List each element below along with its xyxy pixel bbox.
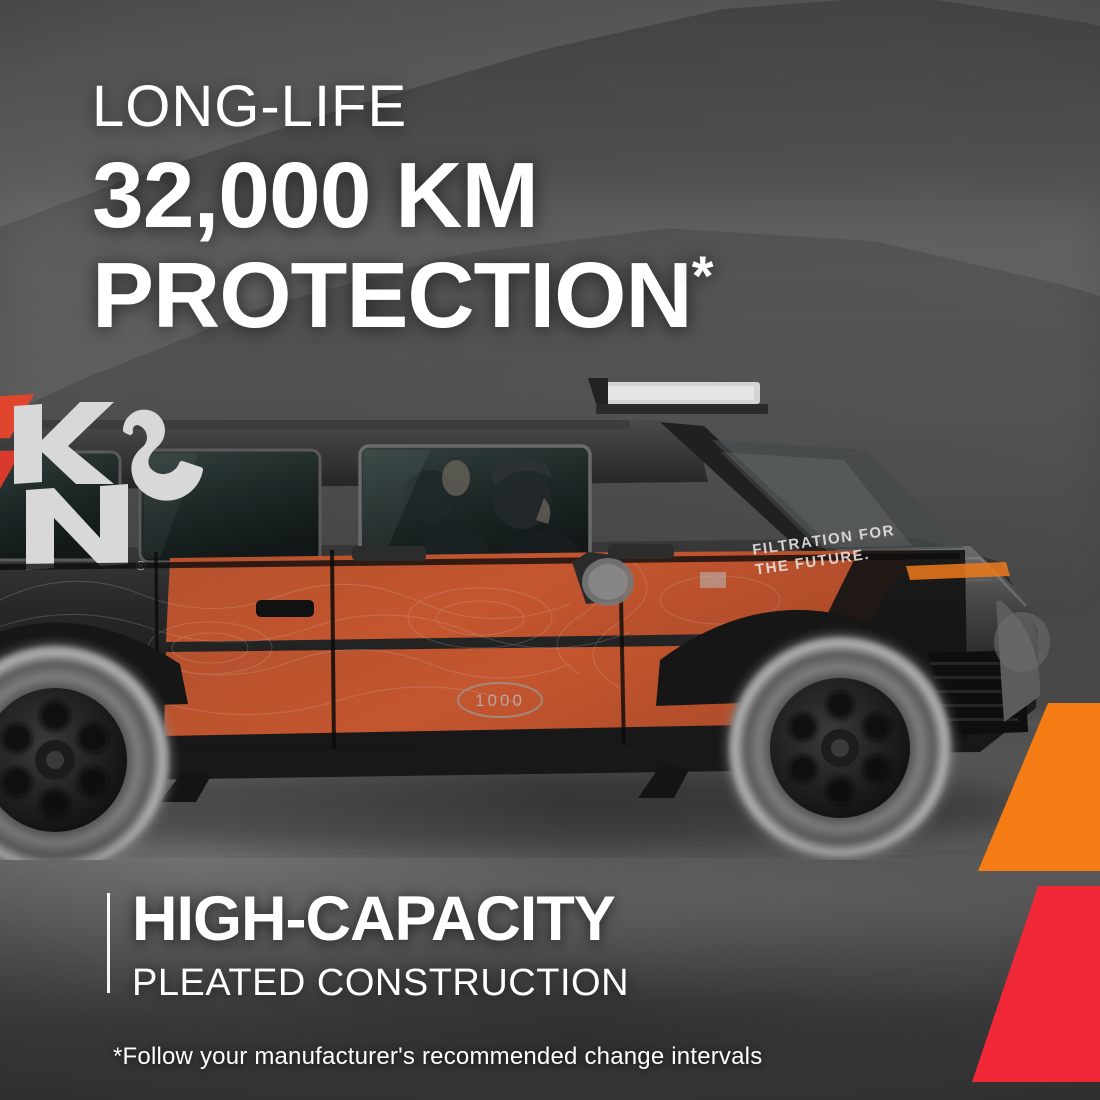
door-handle-rear — [256, 600, 314, 617]
headline-protection-text: PROTECTION — [92, 243, 692, 347]
roof-light-bar — [588, 378, 768, 414]
disclaimer-footnote: *Follow your manufacturer's recommended … — [113, 1043, 762, 1071]
vehicle-svg: ® — [0, 300, 1100, 860]
advertisement-canvas: ® — [0, 0, 1100, 1100]
corner-accent-shapes — [970, 690, 1100, 1100]
headline-asterisk: * — [692, 244, 713, 307]
roof-rail — [0, 420, 630, 429]
subhead-primary: HIGH-CAPACITY — [132, 888, 629, 951]
subhead-secondary: PLEATED CONSTRUCTION — [132, 964, 629, 1002]
headlight — [994, 612, 1050, 672]
door-handle-front — [352, 546, 426, 561]
subhead-block: HIGH-CAPACITY PLEATED CONSTRUCTION — [107, 888, 629, 1002]
red-parallelogram — [972, 886, 1100, 1082]
headline-protection: PROTECTION* — [92, 248, 932, 344]
orange-parallelogram — [978, 703, 1100, 871]
door-badge-text: 1000 — [475, 691, 525, 710]
headline-eyebrow: LONG-LIFE — [92, 78, 932, 136]
door-seam-rear — [332, 550, 334, 752]
offroad-vehicle: ® — [0, 300, 1100, 860]
headline-block: LONG-LIFE 32,000 KM PROTECTION* — [92, 78, 932, 344]
subhead-accent-rule — [107, 893, 110, 993]
headline-mileage: 32,000 KM — [92, 148, 932, 244]
flag-decal — [700, 572, 726, 588]
corner-shapes-svg — [970, 690, 1100, 1100]
